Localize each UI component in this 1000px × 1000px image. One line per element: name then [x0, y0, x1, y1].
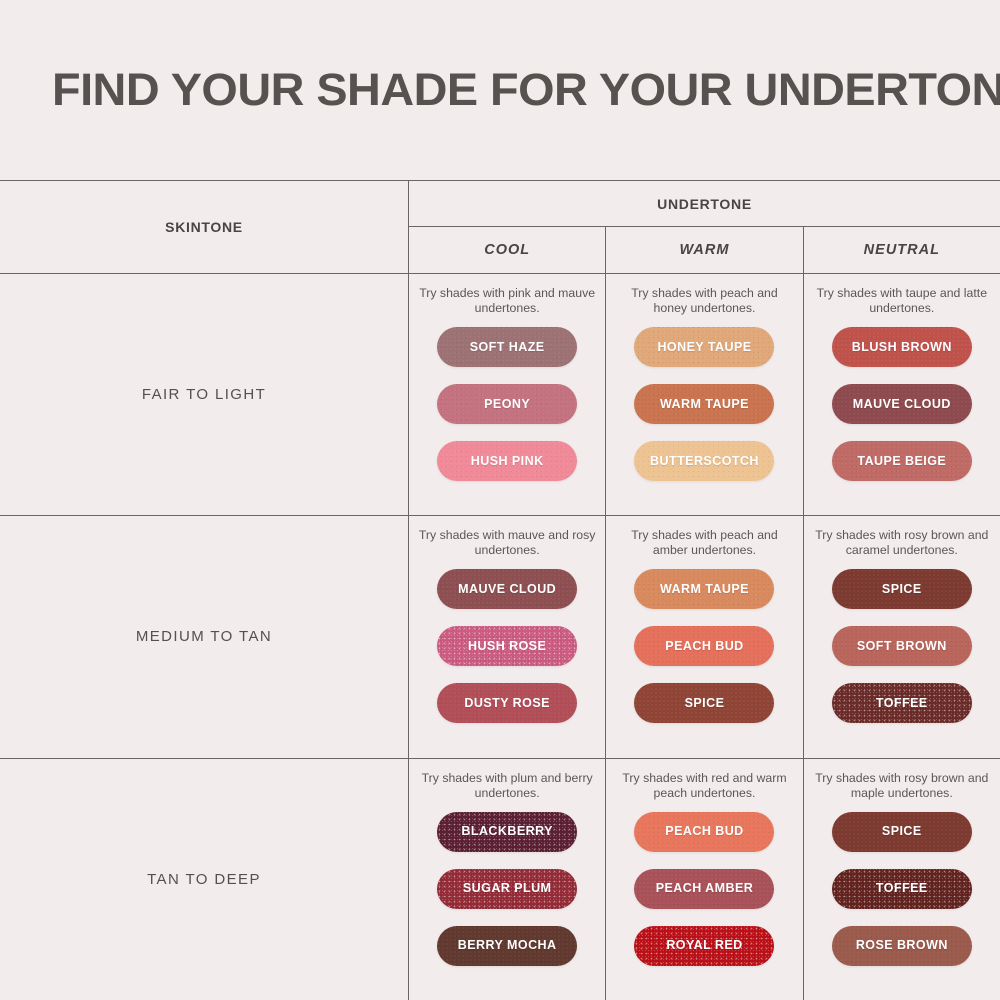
shade-pill[interactable]: BLACKBERRY [437, 812, 577, 852]
shade-cell-neutral: Try shades with rosy brown and maple und… [804, 759, 1000, 1000]
undertone-subheaders: COOL WARM NEUTRAL [409, 227, 1000, 273]
undertone-header-neutral: NEUTRAL [804, 227, 1000, 273]
shade-name-label: HONEY TAUPE [657, 341, 751, 354]
shade-name-label: SOFT HAZE [470, 341, 545, 354]
shade-pill[interactable]: SOFT HAZE [437, 327, 577, 367]
table-body: FAIR TO LIGHTTry shades with pink and ma… [0, 274, 1000, 1000]
shade-name-label: SOFT BROWN [857, 640, 947, 653]
shade-pill[interactable]: TOFFEE [832, 683, 972, 723]
shade-pill-list: WARM TAUPEPEACH BUDSPICE [634, 569, 774, 723]
shade-pill[interactable]: HUSH PINK [437, 441, 577, 481]
shade-pill[interactable]: PEACH BUD [634, 812, 774, 852]
shade-pill-list: BLUSH BROWNMAUVE CLOUDTAUPE BEIGE [832, 327, 972, 481]
table-row: FAIR TO LIGHTTry shades with pink and ma… [0, 274, 1000, 516]
shade-name-label: PEACH AMBER [656, 882, 754, 895]
shade-name-label: TOFFEE [876, 882, 928, 895]
title-bar: FIND YOUR SHADE FOR YOUR UNDERTONE [0, 0, 1000, 180]
shade-name-label: HUSH ROSE [468, 640, 546, 653]
row-cells: Try shades with mauve and rosy undertone… [409, 516, 1000, 757]
shade-name-label: ROSE BROWN [856, 939, 948, 952]
shade-pill[interactable]: ROSE BROWN [832, 926, 972, 966]
shade-name-label: BERRY MOCHA [458, 939, 557, 952]
undertone-group-header: UNDERTONE [409, 181, 1000, 227]
undertone-hint: Try shades with taupe and latte underton… [812, 286, 992, 316]
undertone-hint: Try shades with peach and honey underton… [614, 286, 794, 316]
undertone-header-warm: WARM [606, 227, 803, 273]
shade-pill[interactable]: MAUVE CLOUD [437, 569, 577, 609]
shade-pill-list: MAUVE CLOUDHUSH ROSEDUSTY ROSE [437, 569, 577, 723]
shade-pill[interactable]: WARM TAUPE [634, 384, 774, 424]
shade-cell-cool: Try shades with pink and mauve undertone… [409, 274, 606, 515]
shade-pill-list: SOFT HAZEPEONYHUSH PINK [437, 327, 577, 481]
shade-pill[interactable]: ROYAL RED [634, 926, 774, 966]
shade-pill[interactable]: WARM TAUPE [634, 569, 774, 609]
shade-cell-warm: Try shades with red and warm peach under… [606, 759, 803, 1000]
undertone-header-cool: COOL [409, 227, 606, 273]
shade-name-label: PEONY [484, 398, 530, 411]
undertone-hint: Try shades with mauve and rosy undertone… [417, 528, 597, 558]
shade-name-label: BLUSH BROWN [852, 341, 952, 354]
shade-name-label: WARM TAUPE [660, 583, 749, 596]
shade-name-label: BUTTERSCOTCH [650, 455, 759, 468]
shade-pill[interactable]: HUSH ROSE [437, 626, 577, 666]
shade-pill-list: BLACKBERRYSUGAR PLUMBERRY MOCHA [437, 812, 577, 966]
shade-finder-page: FIND YOUR SHADE FOR YOUR UNDERTONE SKINT… [0, 0, 1000, 1000]
shade-pill[interactable]: SPICE [634, 683, 774, 723]
row-cells: Try shades with plum and berry undertone… [409, 759, 1000, 1000]
undertone-hint: Try shades with rosy brown and maple und… [812, 771, 992, 801]
shade-pill[interactable]: HONEY TAUPE [634, 327, 774, 367]
shade-pill[interactable]: TAUPE BEIGE [832, 441, 972, 481]
shade-name-label: HUSH PINK [471, 455, 544, 468]
undertone-hint: Try shades with plum and berry undertone… [417, 771, 597, 801]
shade-name-label: TOFFEE [876, 697, 928, 710]
shade-name-label: PEACH BUD [665, 640, 743, 653]
shade-pill-list: HONEY TAUPEWARM TAUPEBUTTERSCOTCH [634, 327, 774, 481]
shade-pill[interactable]: PEACH BUD [634, 626, 774, 666]
shade-cell-cool: Try shades with plum and berry undertone… [409, 759, 606, 1000]
undertone-hint: Try shades with peach and amber underton… [614, 528, 794, 558]
shade-cell-neutral: Try shades with taupe and latte underton… [804, 274, 1000, 515]
shade-cell-cool: Try shades with mauve and rosy undertone… [409, 516, 606, 757]
shade-pill[interactable]: DUSTY ROSE [437, 683, 577, 723]
skintone-column-header: SKINTONE [0, 181, 409, 273]
shade-pill[interactable]: PEONY [437, 384, 577, 424]
shade-pill[interactable]: PEACH AMBER [634, 869, 774, 909]
table-row: MEDIUM TO TANTry shades with mauve and r… [0, 516, 1000, 758]
shade-pill-list: SPICESOFT BROWNTOFFEE [832, 569, 972, 723]
shade-name-label: TAUPE BEIGE [857, 455, 946, 468]
shade-pill[interactable]: SUGAR PLUM [437, 869, 577, 909]
shade-cell-neutral: Try shades with rosy brown and caramel u… [804, 516, 1000, 757]
table-header: SKINTONE UNDERTONE COOL WARM NEUTRAL [0, 181, 1000, 274]
shade-name-label: SPICE [685, 697, 725, 710]
undertone-hint: Try shades with red and warm peach under… [614, 771, 794, 801]
skintone-row-label: MEDIUM TO TAN [0, 516, 409, 757]
undertone-hint: Try shades with rosy brown and caramel u… [812, 528, 992, 558]
shade-name-label: PEACH BUD [665, 825, 743, 838]
row-cells: Try shades with pink and mauve undertone… [409, 274, 1000, 515]
shade-name-label: MAUVE CLOUD [458, 583, 556, 596]
shade-name-label: BLACKBERRY [461, 825, 553, 838]
shade-name-label: MAUVE CLOUD [853, 398, 951, 411]
skintone-row-label: TAN TO DEEP [0, 759, 409, 1000]
shade-pill[interactable]: BLUSH BROWN [832, 327, 972, 367]
shade-name-label: ROYAL RED [666, 939, 742, 952]
shade-pill[interactable]: BUTTERSCOTCH [634, 441, 774, 481]
shade-pill[interactable]: TOFFEE [832, 869, 972, 909]
shade-pill-list: SPICETOFFEEROSE BROWN [832, 812, 972, 966]
page-title: FIND YOUR SHADE FOR YOUR UNDERTONE [52, 64, 1000, 116]
shade-name-label: DUSTY ROSE [464, 697, 550, 710]
skintone-row-label: FAIR TO LIGHT [0, 274, 409, 515]
shade-pill[interactable]: BERRY MOCHA [437, 926, 577, 966]
table-row: TAN TO DEEPTry shades with plum and berr… [0, 759, 1000, 1000]
shade-table: SKINTONE UNDERTONE COOL WARM NEUTRAL FAI… [0, 180, 1000, 1000]
shade-pill[interactable]: MAUVE CLOUD [832, 384, 972, 424]
shade-name-label: SPICE [882, 825, 922, 838]
undertone-header-group: UNDERTONE COOL WARM NEUTRAL [409, 181, 1000, 273]
shade-name-label: SUGAR PLUM [463, 882, 552, 895]
shade-name-label: SPICE [882, 583, 922, 596]
shade-cell-warm: Try shades with peach and amber underton… [606, 516, 803, 757]
shade-pill-list: PEACH BUDPEACH AMBERROYAL RED [634, 812, 774, 966]
shade-pill[interactable]: SOFT BROWN [832, 626, 972, 666]
shade-pill[interactable]: SPICE [832, 569, 972, 609]
shade-pill[interactable]: SPICE [832, 812, 972, 852]
undertone-hint: Try shades with pink and mauve undertone… [417, 286, 597, 316]
shade-cell-warm: Try shades with peach and honey underton… [606, 274, 803, 515]
shade-name-label: WARM TAUPE [660, 398, 749, 411]
